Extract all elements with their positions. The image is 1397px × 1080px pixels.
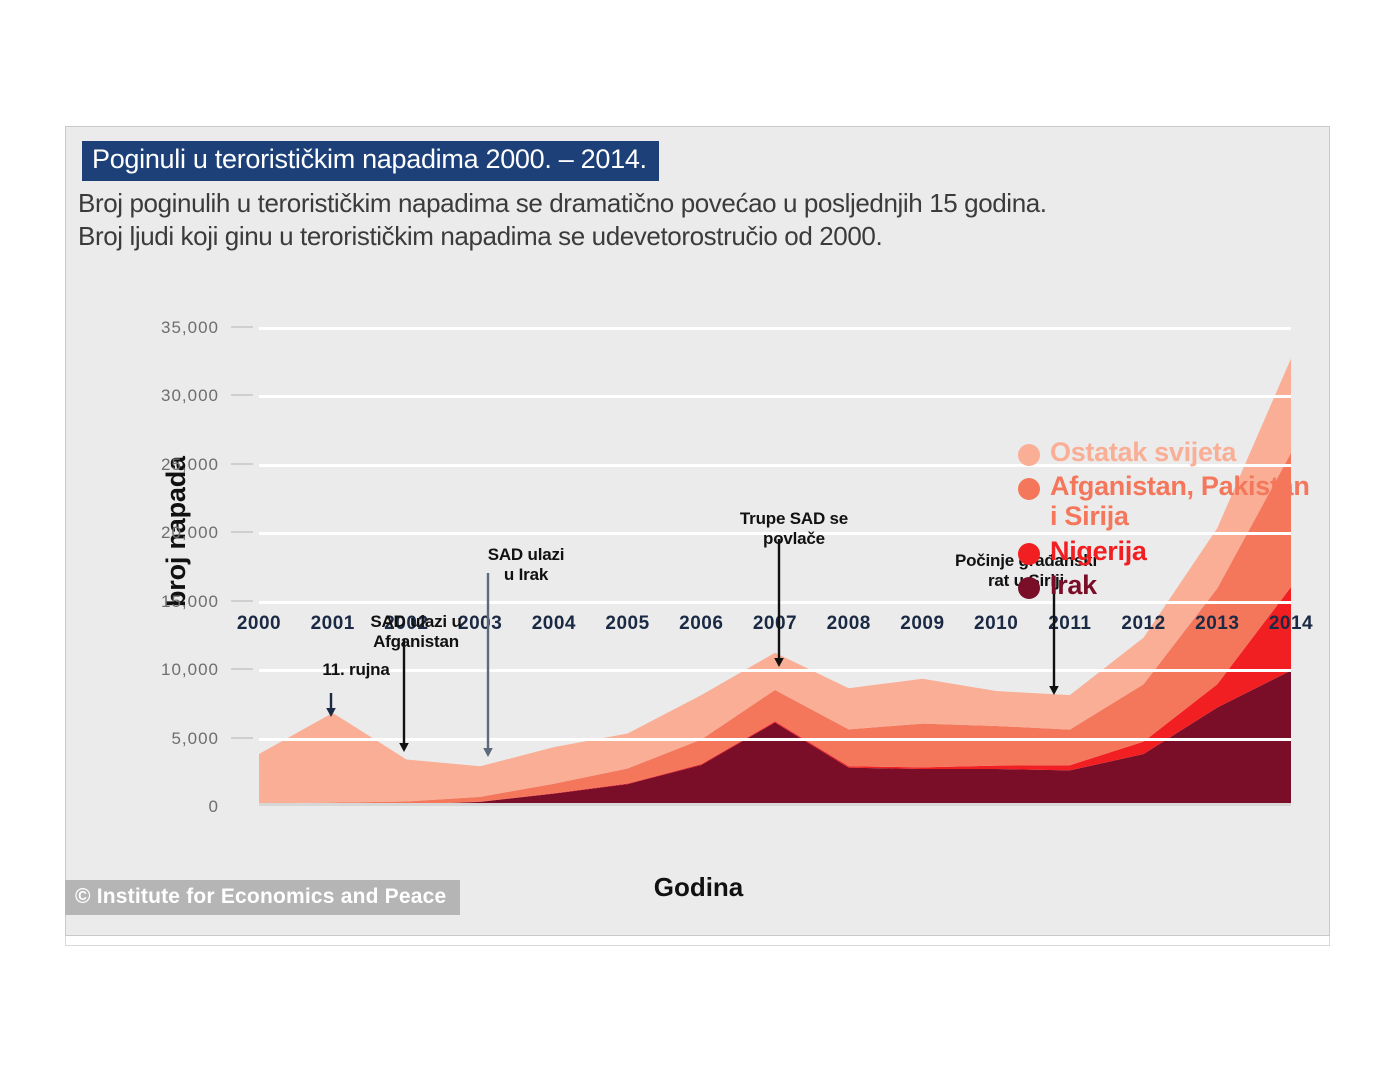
x-tick-label: 2012 [1121, 613, 1165, 635]
y-tick-label: 15,000 [99, 592, 219, 612]
x-tick-label: 2014 [1269, 613, 1313, 635]
chart-legend: Ostatak svijetaAfganistan, Pakistani Sir… [1018, 437, 1348, 604]
legend-label: Ostatak svijeta [1050, 437, 1236, 467]
y-tick-label: 30,000 [99, 386, 219, 406]
y-tick-label: 20,000 [99, 523, 219, 543]
card-footer-strip [65, 936, 1330, 946]
y-tick-label: 25,000 [99, 455, 219, 475]
y-tick-label: 5,000 [99, 729, 219, 749]
y-tick-label: 0 [99, 797, 219, 817]
gridline [259, 395, 1291, 398]
y-tick-mark [231, 531, 253, 533]
annotation-arrow-icon [397, 639, 411, 752]
x-tick-label: 2008 [827, 613, 871, 635]
chart-card: Poginuli u terorističkim napadima 2000. … [65, 126, 1330, 936]
legend-swatch-icon [1018, 577, 1040, 599]
legend-label: Nigerija [1050, 536, 1147, 566]
legend-label: Irak [1050, 570, 1097, 600]
y-tick-mark [231, 463, 253, 465]
source-credit: © Institute for Economics and Peace [65, 880, 460, 915]
y-tick-mark [231, 326, 253, 328]
legend-swatch-icon [1018, 543, 1040, 565]
x-tick-label: 2013 [1195, 613, 1239, 635]
chart-subtitle: Broj poginulih u terorističkim napadima … [78, 187, 1308, 254]
x-tick-label: 2010 [974, 613, 1018, 635]
y-tick-mark [231, 668, 253, 670]
gridline [259, 738, 1291, 741]
annotation-arrow-icon [324, 693, 338, 717]
annotation-label: Trupe SAD sepovlače [714, 509, 874, 549]
subtitle-line-1: Broj poginulih u terorističkim napadima … [78, 187, 1308, 220]
annotation-label: SAD ulazi uAfganistan [336, 612, 496, 652]
legend-item[interactable]: Irak [1018, 570, 1348, 600]
infographic-root: Poginuli u terorističkim napadima 2000. … [0, 0, 1397, 1080]
legend-item[interactable]: Afganistan, Pakistani Sirija [1018, 471, 1348, 531]
gridline [259, 327, 1291, 330]
y-tick-mark [231, 394, 253, 396]
y-tick-label: 35,000 [99, 318, 219, 338]
legend-item[interactable]: Ostatak svijeta [1018, 437, 1348, 467]
x-tick-label: 2009 [900, 613, 944, 635]
x-tick-label: 2004 [532, 613, 576, 635]
y-tick-label: 10,000 [99, 660, 219, 680]
legend-swatch-icon [1018, 444, 1040, 466]
annotation-arrow-icon [772, 539, 786, 667]
legend-item[interactable]: Nigerija [1018, 536, 1348, 566]
y-tick-mark [231, 737, 253, 739]
y-tick-mark [231, 600, 253, 602]
annotation-arrow-icon [481, 573, 495, 757]
x-tick-label: 2005 [605, 613, 649, 635]
annotation-label: 11. rujna [276, 660, 436, 680]
legend-label: Afganistan, Pakistani Sirija [1050, 471, 1310, 531]
subtitle-line-2: Broj ljudi koji ginu u terorističkim nap… [78, 220, 1308, 253]
annotation-label: SAD ulaziu Irak [446, 545, 606, 585]
x-tick-label: 2006 [679, 613, 723, 635]
chart-title-bar: Poginuli u terorističkim napadima 2000. … [82, 141, 659, 181]
page-title: Poginuli u terorističkim napadima 2000. … [92, 144, 647, 174]
x-tick-label: 2000 [237, 613, 281, 635]
x-axis-baseline [259, 803, 1291, 806]
legend-swatch-icon [1018, 478, 1040, 500]
